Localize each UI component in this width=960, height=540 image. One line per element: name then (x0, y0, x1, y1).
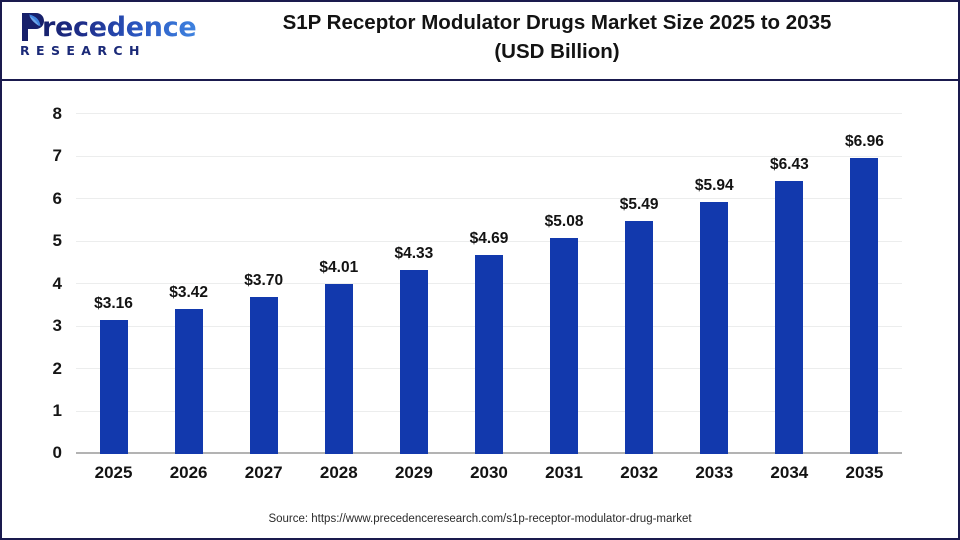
y-axis-tick-label: 4 (53, 274, 62, 294)
bar-group[interactable]: $6.432034 (752, 114, 827, 454)
bar-group[interactable]: $5.942033 (677, 114, 752, 454)
bar-value-label: $3.42 (169, 284, 208, 302)
bar-value-label: $6.43 (770, 156, 809, 174)
x-axis-tick-label: 2027 (245, 463, 283, 483)
x-axis-tick-label: 2034 (770, 463, 808, 483)
bar[interactable] (550, 238, 578, 454)
bar-value-label: $3.70 (244, 272, 283, 290)
bar-group[interactable]: $4.692030 (451, 114, 526, 454)
bar[interactable] (100, 320, 128, 454)
y-axis-tick-label: 8 (53, 104, 62, 124)
bar[interactable] (775, 181, 803, 454)
x-axis-tick-label: 2025 (95, 463, 133, 483)
x-axis-tick-label: 2030 (470, 463, 508, 483)
y-axis-tick-label: 0 (53, 443, 62, 463)
bar-value-label: $5.94 (695, 177, 734, 195)
bar-value-label: $4.33 (394, 245, 433, 263)
bar-value-label: $6.96 (845, 133, 884, 151)
bar-value-label: $3.16 (94, 295, 133, 313)
bar[interactable] (625, 221, 653, 454)
bar[interactable] (700, 202, 728, 454)
bar-group[interactable]: $3.162025 (76, 114, 151, 454)
x-axis-tick-label: 2031 (545, 463, 583, 483)
title-line-2: (USD Billion) (494, 40, 619, 63)
y-axis-tick-label: 2 (53, 359, 62, 379)
y-axis-tick-label: 3 (53, 316, 62, 336)
y-axis-tick-label: 6 (53, 189, 62, 209)
bar-group[interactable]: $3.422026 (151, 114, 226, 454)
chart-body: 012345678 $3.162025$3.422026$3.702027$4.… (2, 81, 958, 538)
bar[interactable] (400, 270, 428, 454)
bar-group[interactable]: $4.332029 (376, 114, 451, 454)
x-axis-tick-label: 2035 (846, 463, 884, 483)
chart-header: recedence RESEARCH S1P Receptor Modulato… (2, 2, 958, 81)
bar-group[interactable]: $5.492032 (602, 114, 677, 454)
bar-group[interactable]: $6.962035 (827, 114, 902, 454)
x-axis-tick-label: 2032 (620, 463, 658, 483)
bar-group[interactable]: $5.082031 (527, 114, 602, 454)
bar[interactable] (850, 158, 878, 454)
x-axis-tick-label: 2028 (320, 463, 358, 483)
plot-area: 012345678 $3.162025$3.422026$3.702027$4.… (76, 114, 902, 454)
bar-value-label: $5.49 (620, 196, 659, 214)
y-axis-tick-label: 7 (53, 146, 62, 166)
bar[interactable] (175, 309, 203, 454)
x-axis-tick-label: 2029 (395, 463, 433, 483)
page-title: S1P Receptor Modulator Drugs Market Size… (192, 8, 922, 66)
x-axis-tick-label: 2026 (170, 463, 208, 483)
bar[interactable] (250, 297, 278, 454)
bar-group[interactable]: $4.012028 (301, 114, 376, 454)
bar[interactable] (325, 284, 353, 454)
source-note: Source: https://www.precedenceresearch.c… (2, 513, 958, 525)
bar-value-label: $4.69 (470, 230, 509, 248)
bar-value-label: $5.08 (545, 213, 584, 231)
title-line-1: S1P Receptor Modulator Drugs Market Size… (283, 11, 832, 34)
bar-series: $3.162025$3.422026$3.702027$4.012028$4.3… (76, 114, 902, 454)
y-axis-tick-label: 1 (53, 401, 62, 421)
x-axis-tick-label: 2033 (695, 463, 733, 483)
logo-wordmark: recedence (42, 12, 196, 43)
bar[interactable] (475, 255, 503, 454)
chart-screenshot: recedence RESEARCH S1P Receptor Modulato… (0, 0, 960, 540)
precedence-research-logo: recedence RESEARCH (14, 10, 184, 68)
bar-group[interactable]: $3.702027 (226, 114, 301, 454)
bar-value-label: $4.01 (319, 259, 358, 277)
logo-subtext: RESEARCH (20, 43, 146, 58)
y-axis-tick-label: 5 (53, 231, 62, 251)
